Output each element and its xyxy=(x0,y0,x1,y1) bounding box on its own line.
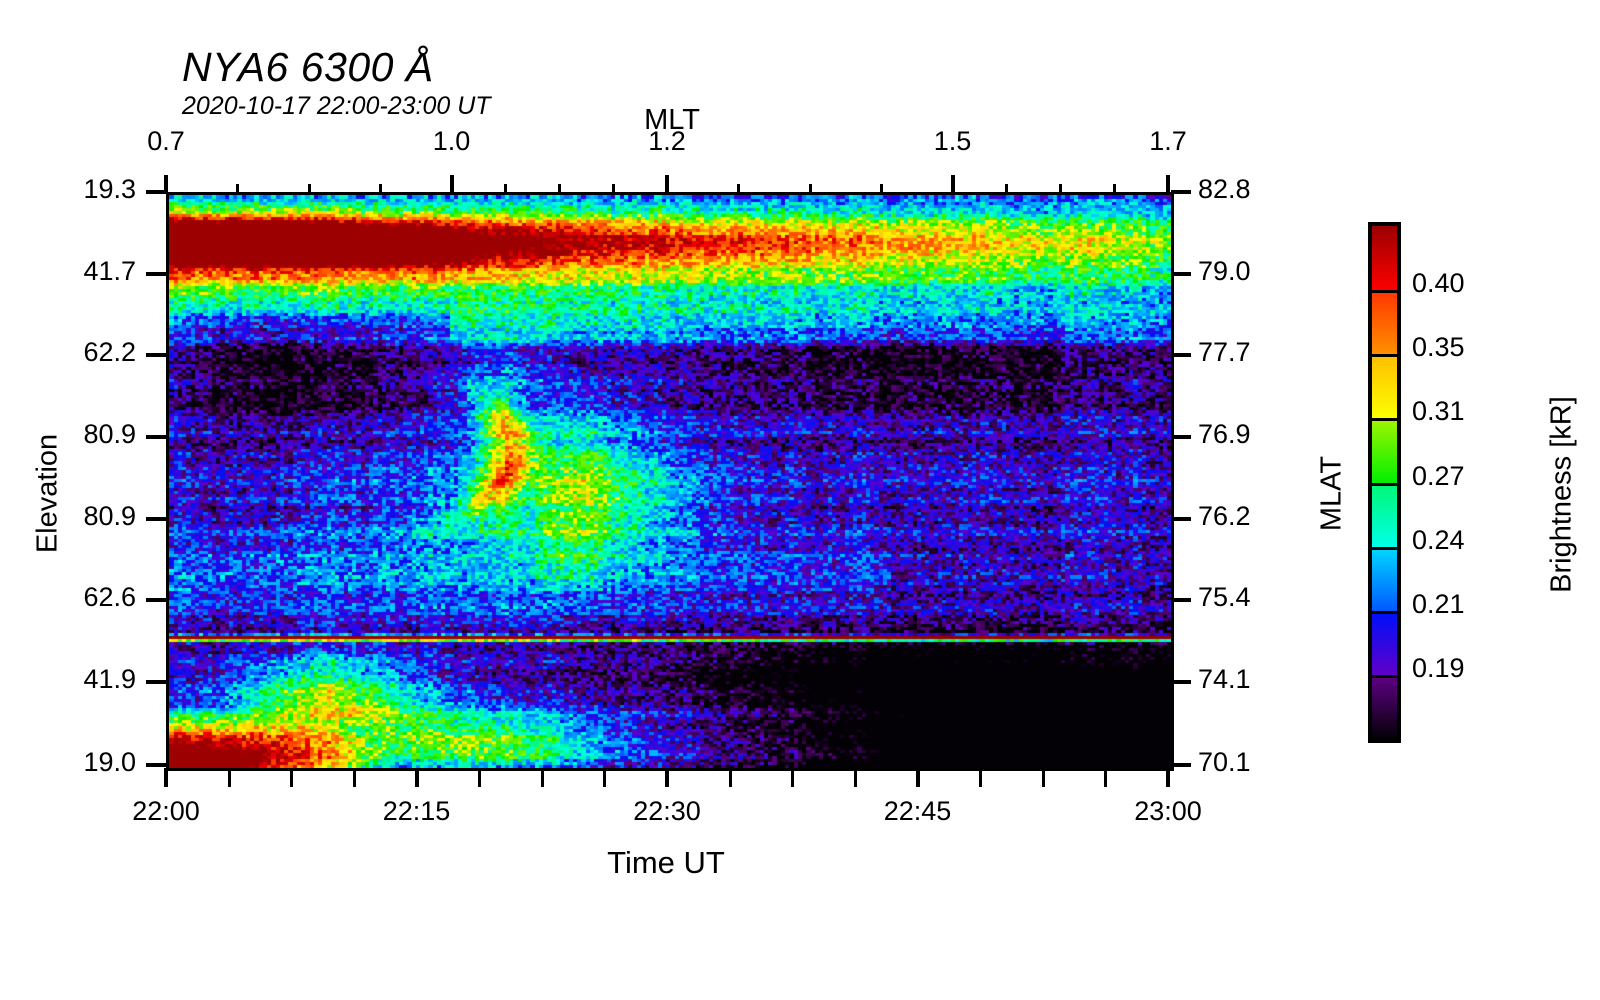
top-tick-label: 0.7 xyxy=(36,126,296,157)
axis-tick xyxy=(1113,184,1116,192)
colorbar-tick-label: 0.35 xyxy=(1412,332,1465,363)
axis-tick xyxy=(809,184,812,192)
colorbar-tick-label: 0.40 xyxy=(1412,268,1465,299)
colorbar-band xyxy=(1372,226,1397,290)
colorbar-band xyxy=(1372,354,1397,418)
axis-tick xyxy=(854,768,857,787)
heatmap-plot-area xyxy=(166,192,1174,771)
left-tick-label: 41.9 xyxy=(0,664,136,695)
left-tick-label: 80.9 xyxy=(0,419,136,450)
axis-tick xyxy=(1171,435,1191,439)
axis-tick xyxy=(541,768,544,787)
left-tick-label: 41.7 xyxy=(0,256,136,287)
colorbar-tick-label: 0.27 xyxy=(1412,461,1465,492)
colorbar-tick-label: 0.24 xyxy=(1412,525,1465,556)
axis-tick xyxy=(379,184,382,192)
top-tick-label: 1.7 xyxy=(1038,126,1298,157)
bottom-tick-label: 23:00 xyxy=(1038,796,1298,827)
axis-tick xyxy=(353,768,356,787)
axis-tick xyxy=(665,175,669,192)
colorbar-tick-label: 0.19 xyxy=(1412,653,1465,684)
colorbar-band xyxy=(1372,290,1397,354)
colorbar-band xyxy=(1372,418,1397,483)
axis-tick xyxy=(791,768,794,787)
colorbar-band xyxy=(1372,675,1397,739)
axis-tick xyxy=(1059,184,1062,192)
axis-tick xyxy=(1166,175,1170,192)
axis-tick xyxy=(236,184,239,192)
colorbar-title: Brightness [kR] xyxy=(1546,285,1579,705)
left-tick-label: 62.6 xyxy=(0,582,136,613)
bottom-tick-label: 22:45 xyxy=(788,796,1048,827)
axis-tick xyxy=(308,184,311,192)
colorbar xyxy=(1368,222,1401,743)
axis-tick xyxy=(880,184,883,192)
colorbar-tick-label: 0.31 xyxy=(1412,396,1465,427)
axis-tick xyxy=(146,680,166,684)
axis-tick xyxy=(1042,768,1045,787)
axis-tick xyxy=(1171,680,1191,684)
axis-tick xyxy=(665,768,669,787)
axis-tick xyxy=(146,435,166,439)
bottom-tick-label: 22:00 xyxy=(36,796,296,827)
axis-tick xyxy=(146,517,166,521)
left-tick-label: 62.2 xyxy=(0,337,136,368)
keogram-figure: NYA6 6300 Å 2020-10-17 22:00-23:00 UT ML… xyxy=(0,0,1600,1000)
axis-tick xyxy=(558,184,561,192)
axis-tick xyxy=(612,184,615,192)
left-tick-label: 19.0 xyxy=(0,747,136,778)
bottom-tick-label: 22:30 xyxy=(537,796,797,827)
axis-tick xyxy=(478,768,481,787)
axis-tick xyxy=(737,184,740,192)
figure-title: NYA6 6300 Å xyxy=(182,44,434,91)
colorbar-tick-label: 0.21 xyxy=(1412,589,1465,620)
colorbar-band xyxy=(1372,547,1397,611)
colorbar-band xyxy=(1372,611,1397,675)
right-tick-label: 70.1 xyxy=(1198,747,1458,778)
figure-subtitle: 2020-10-17 22:00-23:00 UT xyxy=(182,92,491,121)
bottom-axis-title: Time UT xyxy=(466,845,866,881)
top-tick-label: 1.2 xyxy=(537,126,797,157)
axis-tick xyxy=(450,175,454,192)
axis-tick xyxy=(146,272,166,276)
axis-tick xyxy=(1005,184,1008,192)
axis-tick xyxy=(415,768,419,787)
axis-tick xyxy=(951,175,955,192)
axis-tick xyxy=(146,353,166,357)
axis-tick xyxy=(916,768,920,787)
axis-tick xyxy=(228,768,231,787)
axis-tick xyxy=(979,768,982,787)
left-tick-label: 80.9 xyxy=(0,501,136,532)
right-tick-label: 82.8 xyxy=(1198,174,1458,205)
axis-tick xyxy=(1171,353,1191,357)
axis-tick xyxy=(1171,517,1191,521)
colorbar-band xyxy=(1372,483,1397,547)
axis-tick xyxy=(1104,768,1107,787)
axis-tick xyxy=(1171,272,1191,276)
axis-tick xyxy=(1171,763,1191,767)
axis-tick xyxy=(146,763,166,767)
bottom-tick-label: 22:15 xyxy=(287,796,547,827)
left-tick-label: 19.3 xyxy=(0,174,136,205)
axis-tick xyxy=(603,768,606,787)
heatmap-canvas xyxy=(169,195,1171,768)
axis-tick xyxy=(1166,768,1170,787)
axis-tick xyxy=(1171,190,1191,194)
axis-tick xyxy=(729,768,732,787)
axis-tick xyxy=(146,598,166,602)
axis-tick xyxy=(164,768,168,787)
axis-tick xyxy=(146,190,166,194)
axis-tick xyxy=(1171,598,1191,602)
axis-tick xyxy=(290,768,293,787)
axis-tick xyxy=(504,184,507,192)
